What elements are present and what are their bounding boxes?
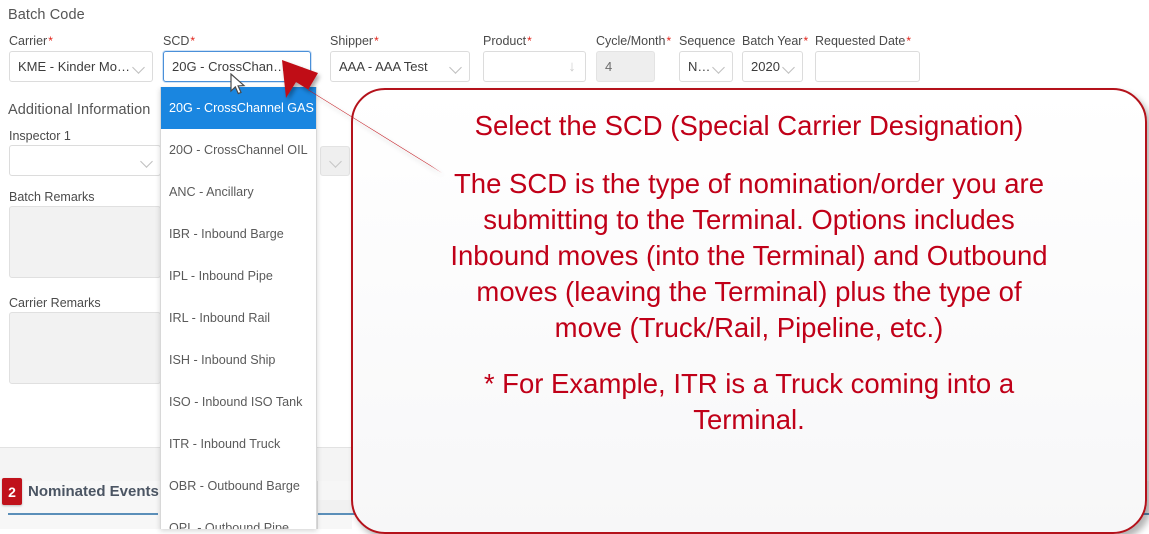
callout-line-4: Inbound moves (into the Terminal) and Ou… xyxy=(387,238,1111,274)
dropdown-option[interactable]: OBR - Outbound Barge xyxy=(161,465,316,507)
callout-line-6: move (Truck/Rail, Pipeline, etc.) xyxy=(387,310,1111,346)
chevron-down-icon xyxy=(290,60,304,74)
callout-line-1: Select the SCD (Special Carrier Designat… xyxy=(387,108,1111,144)
inspector-1-label: Inspector 1 xyxy=(9,129,71,143)
batch-year-select[interactable]: 2020 xyxy=(742,51,803,82)
scd-value: 20G - CrossChannel GAS xyxy=(172,60,288,73)
chevron-down-icon xyxy=(329,154,343,168)
sequence-select[interactable]: Next xyxy=(679,51,733,82)
callout-line-2: The SCD is the type of nomination/order … xyxy=(387,166,1111,202)
chevron-down-icon xyxy=(132,60,146,74)
carrier-value: KME - Kinder Morgan xyxy=(18,60,130,73)
annotation-callout: Select the SCD (Special Carrier Designat… xyxy=(351,88,1147,534)
carrier-remarks-textarea[interactable] xyxy=(9,312,161,384)
required-asterisk: * xyxy=(666,34,671,48)
batch-year-label: Batch Year* xyxy=(742,34,808,48)
requested-date-label: Requested Date* xyxy=(815,34,911,48)
carrier-remarks-label: Carrier Remarks xyxy=(9,296,101,310)
product-label: Product* xyxy=(483,34,532,48)
cycle-month-field: 4 xyxy=(596,51,655,82)
dropdown-option[interactable]: IRL - Inbound Rail xyxy=(161,297,316,339)
dropdown-option[interactable]: ISO - Inbound ISO Tank xyxy=(161,381,316,423)
inspector-1-select[interactable] xyxy=(9,145,161,176)
chevron-down-icon xyxy=(782,60,796,74)
required-asterisk: * xyxy=(48,34,53,48)
hidden-dropdown-button[interactable] xyxy=(320,146,350,176)
chevron-down-icon xyxy=(140,154,154,168)
required-asterisk: * xyxy=(190,34,195,48)
batch-remarks-textarea[interactable] xyxy=(9,206,161,278)
batch-code-section-title: Batch Code xyxy=(8,7,85,23)
required-asterisk: * xyxy=(803,34,808,48)
sequence-value: Next xyxy=(688,60,710,73)
required-asterisk: * xyxy=(906,34,911,48)
dropdown-option[interactable]: IPL - Inbound Pipe xyxy=(161,255,316,297)
dropdown-option[interactable]: ISH - Inbound Ship xyxy=(161,339,316,381)
callout-line-5: moves (leaving the Terminal) plus the ty… xyxy=(387,274,1111,310)
batch-year-value: 2020 xyxy=(751,60,780,73)
dropdown-option[interactable]: 20O - CrossChannel OIL xyxy=(161,129,316,171)
requested-date-field[interactable] xyxy=(815,51,920,82)
chevron-down-icon xyxy=(449,60,463,74)
shipper-label: Shipper* xyxy=(330,34,379,48)
shipper-select[interactable]: AAA - AAA Test xyxy=(330,51,470,82)
cycle-month-label: Cycle/Month* xyxy=(596,34,671,48)
dropdown-option[interactable]: IBR - Inbound Barge xyxy=(161,213,316,255)
nominated-events-title: Nominated Events xyxy=(28,479,159,505)
tab-underline xyxy=(8,513,158,515)
callout-line-7: * For Example, ITR is a Truck coming int… xyxy=(387,366,1111,402)
required-asterisk: * xyxy=(374,34,379,48)
carrier-select[interactable]: KME - Kinder Morgan xyxy=(9,51,153,82)
shipper-value: AAA - AAA Test xyxy=(339,60,447,73)
scd-label: SCD* xyxy=(163,34,195,48)
mouse-cursor xyxy=(230,73,248,97)
required-asterisk: * xyxy=(527,34,532,48)
carrier-label: Carrier* xyxy=(9,34,53,48)
dropdown-option[interactable]: ITR - Inbound Truck xyxy=(161,423,316,465)
batch-remarks-label: Batch Remarks xyxy=(9,190,94,204)
chevron-down-icon xyxy=(712,60,726,74)
scd-dropdown-list[interactable]: 20G - CrossChannel GAS20O - CrossChannel… xyxy=(160,87,317,529)
additional-info-section-title: Additional Information xyxy=(8,102,150,118)
sequence-label: Sequence xyxy=(679,34,735,48)
arrow-down-icon: ↓ xyxy=(565,59,579,75)
dropdown-option[interactable]: ANC - Ancillary xyxy=(161,171,316,213)
dropdown-option[interactable]: OPL - Outbound Pipe xyxy=(161,507,316,529)
product-lookup[interactable]: ↓ xyxy=(483,51,586,82)
callout-line-8: Terminal. xyxy=(387,402,1111,438)
nominated-events-badge: 2 xyxy=(2,478,22,505)
callout-line-3: submitting to the Terminal. Options incl… xyxy=(387,202,1111,238)
app-screen: Batch Code Carrier* KME - Kinder Morgan … xyxy=(0,0,1149,529)
cycle-month-value: 4 xyxy=(605,60,648,73)
panel-divider xyxy=(317,481,318,529)
